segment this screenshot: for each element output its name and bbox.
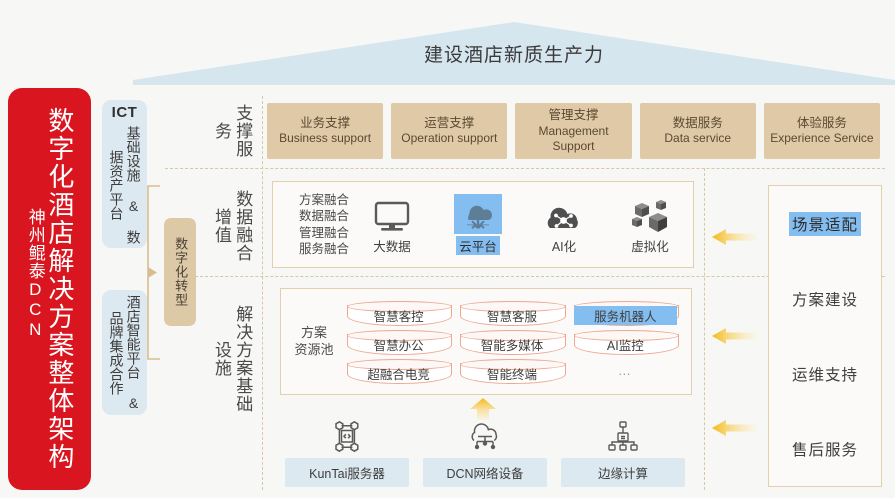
digital-transformation-label: 数字化转型: [172, 237, 188, 307]
cloud-network-icon: [464, 420, 506, 454]
support-service-card[interactable]: 体验服务 Experience Service: [764, 103, 880, 159]
pool-item-more: …: [574, 359, 677, 382]
grid-divider-1: [165, 168, 885, 169]
pool-item-label: 智慧客控: [347, 306, 450, 325]
main-title: 数字化酒店解决方案整体架构: [46, 107, 74, 471]
service-lifecycle-panel: 场景适配 方案建设 运维支持 售后服务: [768, 185, 882, 487]
grid-divider-vertical-right: [704, 168, 705, 490]
support-service-cn: 体验服务: [797, 116, 847, 132]
service-item-aftersales[interactable]: 售后服务: [789, 437, 861, 461]
pillar-ict[interactable]: 基础设施 & 数据资产平台: [102, 100, 147, 248]
support-services-row: 业务支撑 Business support 运营支撑 Operation sup…: [267, 103, 880, 159]
cloud-sync-icon: [454, 194, 502, 234]
pool-item[interactable]: 智能多媒体: [460, 330, 563, 353]
support-service-cn: 管理支撑: [549, 108, 599, 124]
support-service-card[interactable]: 管理支撑 Management Support: [515, 103, 631, 159]
data-fusion-panel: 方案融合 数据融合 管理融合 服务融合 大数据: [272, 181, 694, 268]
edge-tree-icon: [607, 420, 639, 454]
row-label-data-fusion: 数据融合增值: [204, 188, 260, 264]
monitor-icon: [372, 194, 412, 234]
support-service-en: Experience Service: [770, 131, 873, 146]
fusion-item-label: 云平台: [456, 236, 500, 255]
support-service-en: Data service: [664, 131, 731, 146]
pillar-ict-label: 基础设施 & 数据资产平台: [107, 122, 141, 248]
row-label-solution: 解决方案基础设施: [204, 300, 260, 418]
arrow-left-icon-2: [712, 327, 756, 345]
support-service-card[interactable]: 业务支撑 Business support: [267, 103, 383, 159]
pool-item-grid: 智慧客控 智慧客服 服务机器人 智慧办公 智能多媒体: [347, 301, 691, 382]
pool-item-label: 智能终端: [460, 364, 563, 383]
fusion-item-virtualization[interactable]: 虚拟化: [619, 194, 681, 255]
pool-item[interactable]: 智慧办公: [347, 330, 450, 353]
fusion-item-bigdata[interactable]: 大数据: [361, 194, 423, 255]
brand-title-panel: 数字化酒店解决方案整体架构 神州鲲泰DCN: [8, 88, 91, 490]
support-service-en: Business support: [279, 131, 371, 146]
fusion-item-label: 虚拟化: [631, 236, 669, 255]
roof-baseline: [133, 84, 895, 85]
pillar-ict-heading: ICT: [102, 104, 147, 121]
grid-divider-vertical-left: [262, 96, 263, 490]
support-service-cn: 业务支撑: [300, 116, 350, 132]
pillar-hotel[interactable]: 酒店智能平台 & 品牌集成合作: [102, 290, 147, 415]
support-service-cn: 运营支撑: [424, 116, 474, 132]
pool-item-selected[interactable]: 服务机器人: [574, 301, 677, 324]
support-service-card[interactable]: 运营支撑 Operation support: [391, 103, 507, 159]
roof-banner: 建设酒店新质生产力: [133, 22, 895, 84]
cubes-icon: [629, 194, 671, 234]
arrow-left-icon-3: [712, 419, 756, 437]
pool-item-label: 服务机器人: [574, 306, 677, 325]
infra-item-label: DCN网络设备: [423, 458, 547, 487]
pool-item[interactable]: 智慧客服: [460, 301, 563, 324]
fusion-item-label: 大数据: [373, 236, 411, 255]
support-service-en: Operation support: [401, 131, 497, 146]
pillar-hotel-label: 酒店智能平台 & 品牌集成合作: [107, 290, 141, 415]
pool-item-label: 智慧客服: [460, 306, 563, 325]
service-item-scenario[interactable]: 场景适配: [789, 212, 861, 236]
infra-item-label: KunTai服务器: [285, 458, 409, 487]
pool-item-label: 智能多媒体: [460, 335, 563, 354]
sub-title: 神州鲲泰DCN: [25, 208, 44, 340]
pool-item[interactable]: 超融合电竞: [347, 359, 450, 382]
solution-resource-pool: 方案 资源池 智慧客控 智慧客服 服务机器人 智慧办公: [280, 288, 692, 395]
pool-item-label: AI监控: [574, 335, 677, 354]
pool-label: 方案 资源池: [281, 325, 347, 359]
fusion-item-cloud[interactable]: 云平台: [447, 194, 509, 255]
row-label-support: 支撑服务: [204, 103, 260, 159]
support-service-en: Management Support: [517, 124, 629, 154]
infra-item-edge[interactable]: 边缘计算: [561, 420, 685, 488]
fusion-description: 方案融合 数据融合 管理融合 服务融合: [299, 192, 349, 258]
infra-item-dcn[interactable]: DCN网络设备: [423, 420, 547, 488]
support-service-card[interactable]: 数据服务 Data service: [640, 103, 756, 159]
architecture-diagram: 数字化酒店解决方案整体架构 神州鲲泰DCN 建设酒店新质生产力 基础设施 & 数…: [0, 0, 895, 498]
support-service-cn: 数据服务: [673, 116, 723, 132]
pool-item[interactable]: 智慧客控: [347, 301, 450, 324]
arrow-left-icon-1: [712, 228, 756, 246]
ai-cloud-icon: [542, 194, 586, 234]
pool-item-label: 超融合电竞: [347, 364, 450, 383]
service-item-operations[interactable]: 运维支持: [789, 362, 861, 386]
roof-title: 建设酒店新质生产力: [133, 40, 895, 67]
server-mesh-icon: [330, 420, 364, 454]
arrow-up-icon: [466, 398, 500, 420]
infra-item-label: 边缘计算: [561, 458, 685, 487]
pool-item[interactable]: AI监控: [574, 330, 677, 353]
pool-item[interactable]: 智能终端: [460, 359, 563, 382]
fusion-icon-list: 大数据 云平台: [349, 194, 693, 255]
service-item-construction[interactable]: 方案建设: [789, 287, 861, 311]
infra-item-kuntai[interactable]: KunTai服务器: [285, 420, 409, 488]
infrastructure-row: KunTai服务器 DCN网络设备: [285, 420, 685, 488]
digital-transformation-box[interactable]: 数字化转型: [164, 218, 196, 326]
fusion-item-label: AI化: [552, 236, 576, 255]
pool-item-label: 智慧办公: [347, 335, 450, 354]
fusion-item-ai[interactable]: AI化: [533, 194, 595, 255]
